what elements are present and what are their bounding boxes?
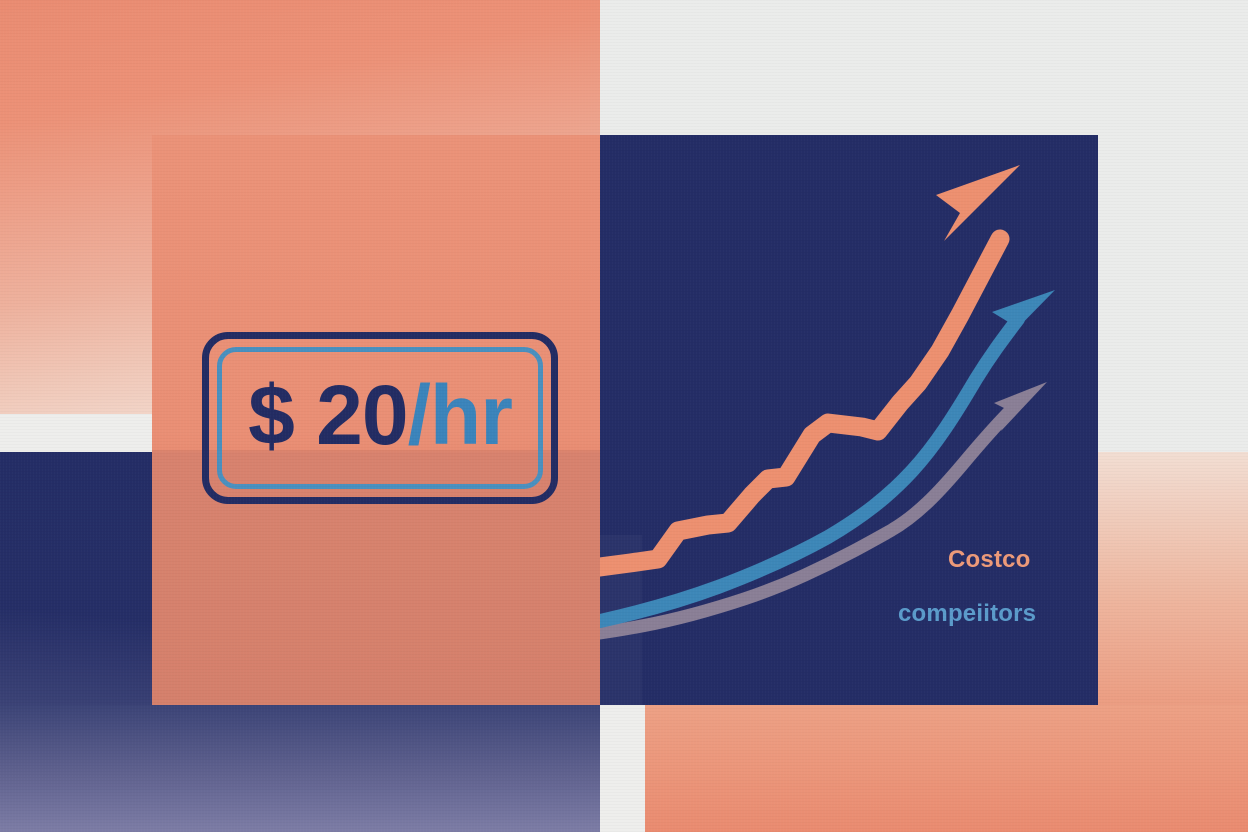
- background-panel-bottom-left-lower: [0, 705, 600, 832]
- wage-amount: $ 20: [248, 368, 408, 462]
- background-panel-bottom-right: [645, 705, 1248, 832]
- wage-badge: $ 20/hr: [202, 332, 558, 504]
- wage-unit: /hr: [408, 368, 512, 462]
- infographic-canvas: $ 20/hr Costco compeiitors: [0, 0, 1248, 832]
- background-white-strip: [600, 705, 645, 832]
- wage-text: $ 20/hr: [248, 373, 512, 457]
- series-label-competitors: compeiitors: [898, 600, 1036, 628]
- series-label-costco: Costco: [948, 546, 1031, 574]
- arrowhead-costco: [936, 165, 1020, 241]
- wage-badge-inner-border: $ 20/hr: [217, 347, 543, 489]
- series-line-costco: [600, 165, 1020, 567]
